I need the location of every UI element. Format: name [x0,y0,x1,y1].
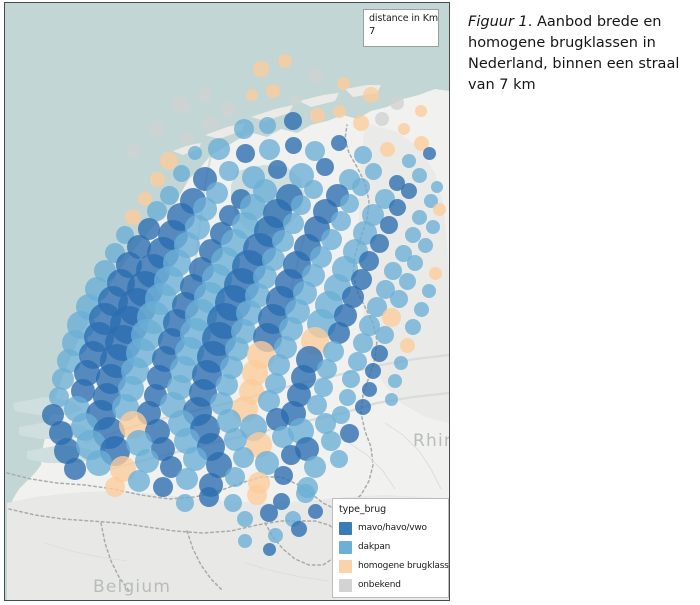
map-label-rhine: Rhin [413,431,449,451]
distance-legend-box: distance in Km 7 [363,9,439,47]
figure-number: Figuur 1 [468,14,528,30]
figure-caption: Figuur 1. Aanbod brede en homogene brugk… [468,12,696,96]
legend-item-label: dakpan [358,542,390,553]
type-legend-rows: mavo/havo/vwodakpanhomogene brugklasseno… [339,519,448,595]
legend-swatch-icon [339,541,352,554]
legend-item-label: onbekend [358,580,401,591]
map-figure: BelgiumRhin distance in Km 7 type_brug m… [4,2,450,601]
type-legend-title: type_brug [339,504,448,516]
legend-swatch-icon [339,522,352,535]
legend-swatch-icon [339,579,352,592]
legend-item-label: mavo/havo/vwo [358,523,427,534]
legend-item-label: homogene brugklassen [358,561,449,572]
distance-legend-value: 7 [369,25,434,38]
legend-item-1[interactable]: dakpan [339,538,448,557]
legend-item-0[interactable]: mavo/havo/vwo [339,519,448,538]
legend-item-2[interactable]: homogene brugklassen [339,557,448,576]
map-label-belgium: Belgium [93,577,171,597]
legend-swatch-icon [339,560,352,573]
type-legend-box: type_brug mavo/havo/vwodakpanhomogene br… [332,498,449,598]
map-canvas[interactable]: BelgiumRhin distance in Km 7 type_brug m… [5,3,449,600]
distance-legend-title: distance in Km [369,13,434,25]
legend-item-3[interactable]: onbekend [339,576,448,595]
